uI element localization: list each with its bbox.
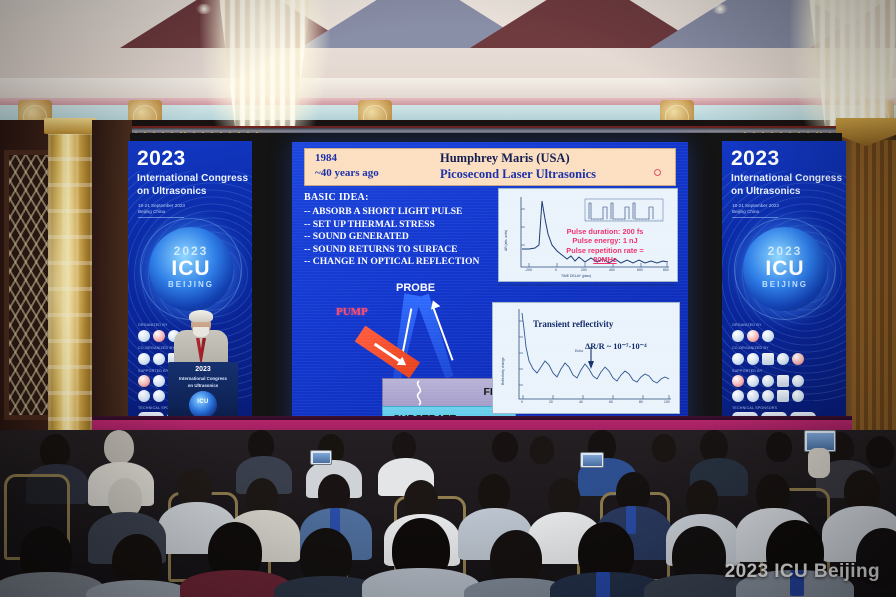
orb-city: BEIJING [743,280,827,289]
pump-probe-diagram: PROBE PUMP FILM SUBSTRATE [334,282,514,428]
banner-date: 18-21 September 2023Beijing China [732,203,779,215]
banner-title-line2: on Ultrasonics [731,186,800,197]
sponsor-label: TECHNICAL SPONSORS [732,406,777,410]
wall-recess [92,120,132,450]
column-capital [44,118,96,134]
attendee-head [104,430,134,464]
laser-annotation: Pulse repetition rate = [537,246,673,255]
xtick: 600 [637,268,643,272]
orb-acronym: ICU [743,257,827,281]
sponsor-label: ORGANIZED BY [138,323,168,327]
attendee-head [548,478,580,516]
attendee-head [766,432,792,462]
attendee-head [866,436,894,468]
basic-idea-list: -- ABSORB A SHORT LIGHT PULSE -- SET UP … [304,206,492,269]
slide-header-box: 1984 ~40 years ago Humphrey Maris (USA) … [304,148,676,186]
transient-delta-r: ΔR/R ~ 10⁻⁷-10⁻⁴ [585,341,647,351]
attendee-shoulders [362,568,480,597]
podium-title-line1: International Congress [168,376,238,381]
list-item: -- CHANGE IN OPTICAL REFLECTION [304,256,492,269]
icu-logo-orb: 2023 ICU BEIJING [149,227,233,311]
orb-year: 2023 [149,244,233,258]
banner-year: 2023 [137,147,186,171]
lanyard [596,572,610,597]
slide-subtitle: Picosecond Laser Ultrasonics [440,167,596,182]
slide-years-ago: ~40 years ago [315,167,379,179]
sponsor-label: CO-ORGANIZED BY [138,346,175,350]
hall-ceiling [0,0,896,120]
transient-reflectivity-chart: Transient reflectivity ΔR/R ~ 10⁻⁷-10⁻⁴ … [492,302,680,414]
smartphone [580,452,604,468]
stage-curtain [852,140,896,450]
pump-label: PUMP [336,306,368,318]
slide-year: 1984 [315,152,337,164]
attendee-arm [808,448,830,478]
attendee-head [530,436,554,464]
attendee-head [652,434,676,462]
attendee-head [478,474,510,512]
icu-logo-orb: 2023 ICU BEIJING [743,227,827,311]
xtick: 200 [581,268,587,272]
laser-annotation: Pulse energy: 1 nJ [537,236,673,245]
conference-photo: 2023 International Congress on Ultrasoni… [0,0,896,597]
echo-annotation: Echo [575,349,583,353]
transient-title: Transient reflectivity [533,319,613,329]
basic-idea-title: BASIC IDEA: [304,192,492,203]
top-chart-xlabel: TIME DELAY (psec) [561,274,591,278]
xtick: 0 [521,400,523,404]
banner-year: 2023 [731,147,780,171]
reflectivity-chart: ΔR (arb. units) Pulse duration: 200 fs P… [498,188,678,282]
xtick: 60 [609,400,613,404]
list-item: -- SOUND GENERATED [304,231,492,244]
xtick: 20 [549,400,553,404]
speaker-beard [193,327,209,337]
sponsor-label: SUPPORTED BY [732,369,763,373]
podium-orb-acronym: ICU [189,399,217,405]
sponsor-label: CO-ORGANIZED BY [732,346,769,350]
podium-icu-logo: ICU [189,391,217,419]
speaker-hair [189,310,213,322]
acoustic-wave-icon [412,380,426,406]
banner-title-line1: International Congress [137,173,248,184]
bullet-dot-icon [654,169,661,176]
podium-title-line2: on Ultrasonics [168,383,238,388]
orb-city: BEIJING [149,280,233,289]
attendee-shoulders [86,580,192,597]
orb-year: 2023 [743,244,827,258]
probe-label: PROBE [396,282,435,294]
laser-annotation: Pulse duration: 200 fs [537,227,673,236]
banner-title-line1: International Congress [731,173,842,184]
bottom-chart-ylabel: Reflectivity change [501,357,505,385]
podium-year: 2023 [168,366,238,373]
orb-acronym: ICU [149,257,233,281]
attendee-head [40,434,70,468]
xtick: 80 [639,400,643,404]
top-chart-ylabel: ΔR (arb. units) [504,230,508,251]
photo-watermark: 2023 ICU Beijing [725,561,880,583]
xtick: 40 [579,400,583,404]
presentation-slide: 1984 ~40 years ago Humphrey Maris (USA) … [292,142,688,434]
list-item: -- SOUND RETURNS TO SURFACE [304,244,492,257]
banner-title-line2: on Ultrasonics [137,186,206,197]
laser-annotation: 80MHz [537,255,673,264]
attendee-head [392,432,416,460]
xtick: -200 [525,268,532,272]
xtick: 800 [663,268,669,272]
sponsor-label: SUPPORTED BY [138,369,169,373]
podium: 2023 International Congress on Ultrasoni… [168,362,238,424]
attendee-head [686,480,718,518]
lanyard [626,506,636,534]
xtick: 100 [664,400,670,404]
xtick: 400 [609,268,615,272]
attendee-head [318,474,350,512]
xtick: 0 [555,268,557,272]
gold-ornamental-column [48,122,92,447]
list-item: -- SET UP THERMAL STRESS [304,219,492,232]
roll-up-banner-right: 2023 International Congress on Ultrasoni… [722,141,846,436]
slide-author: Humphrey Maris (USA) [440,151,570,166]
basic-idea-block: BASIC IDEA: -- ABSORB A SHORT LIGHT PULS… [304,192,492,269]
figure-caption: FIG. 4. Photoinduced changes in reflecti… [498,282,676,287]
list-item: -- ABSORB A SHORT LIGHT PULSE [304,206,492,219]
sponsor-label: ORGANIZED BY [732,323,762,327]
attendee-head [492,432,518,462]
banner-date: 18-21 September 2023Beijing China [138,203,185,215]
smartphone [310,450,332,465]
